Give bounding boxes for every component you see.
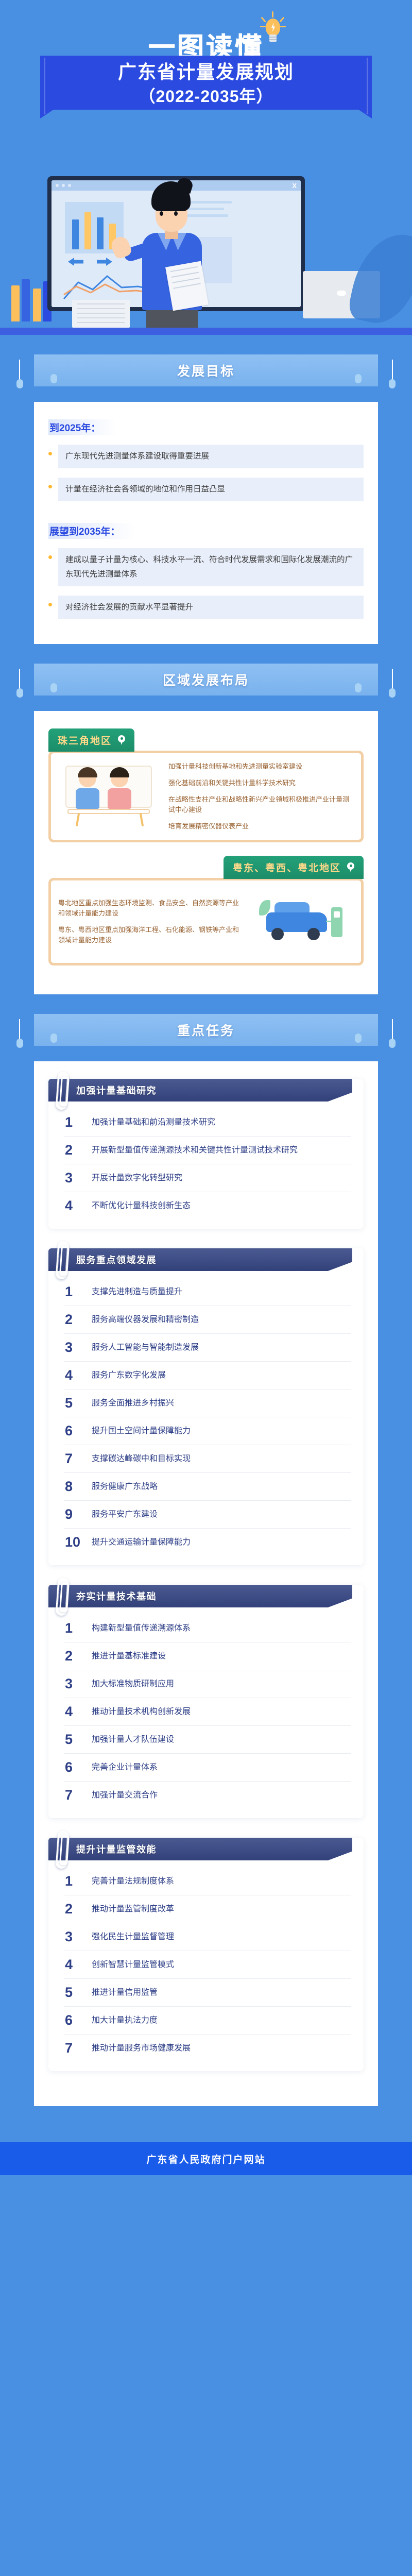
paperclip-icon [55,1241,69,1279]
footer-text: 广东省人民政府门户网站 [146,2152,265,2166]
task-label: 完善计量法规制度体系 [92,1875,174,1888]
task-label: 推动计量服务市场健康发展 [92,2042,191,2055]
task-label: 加强计量交流合作 [92,1789,158,1802]
task-number: 2 [65,1902,82,1916]
task-card: 加强计量基础研究1加强计量基础和前沿测量技术研究2开展新型量值传递溯源技术和关键… [48,1079,364,1229]
section-title-regions: 区域发展布局 [163,670,249,689]
task-card: 夯实计量技术基础1构建新型量值传递溯源体系2推进计量基标准建设3加大标准物质研制… [48,1585,364,1818]
region-point: 在战略性支柱产业和战略性新兴产业领域积极推进产业计量测试中心建设 [168,794,354,815]
goal-item: 对经济社会发展的贡献水平显著提升 [48,596,364,619]
task-number: 2 [65,1143,82,1157]
region-point: 加强计量科技创新基地和先进测量实验室建设 [168,761,354,772]
task-label: 支撑碳达峰碳中和目标实现 [92,1453,191,1465]
region-box-prd: 加强计量科技创新基地和先进测量实验室建设 强化基础前沿和关键共性计量科学技术研究… [48,751,364,842]
pin-icon-right-lower [389,1039,396,1048]
task-list: 1完善计量法规制度体系2推动计量监管制度改革3强化民生计量监督管理4创新智慧计量… [48,1860,364,2062]
section-banner-tasks: 重点任务 [34,1014,378,1046]
task-label: 服务平安广东建设 [92,1509,158,1521]
pin-icon-left-lower [16,1039,23,1048]
region-point: 培育发展精密仪器仪表产业 [168,821,354,832]
region-name: 珠三角地区 [58,733,112,747]
task-number: 7 [65,1788,82,1802]
map-pin-icon [347,862,354,872]
goal-item: 计量在经济社会各领域的地位和作用日益凸显 [48,478,364,501]
section-title-goals: 发展目标 [177,361,235,380]
task-label: 开展新型量值传递溯源技术和关键共性计量测试技术研究 [92,1144,298,1157]
task-row[interactable]: 2开展新型量值传递溯源技术和关键共性计量测试技术研究 [64,1137,351,1164]
task-number: 1 [65,1115,82,1129]
students-illustration [58,764,161,829]
region-box-east-west-north: 粤北地区重点加强生态环境监测、食品安全、自然资源等产业和领域计量能力建设 粤东、… [48,878,364,965]
window-dots-icon [56,184,71,187]
task-label: 强化民生计量监督管理 [92,1931,174,1943]
task-row[interactable]: 4推动计量技术机构创新发展 [64,1698,351,1726]
task-number: 5 [65,1396,82,1410]
task-number: 1 [65,1874,82,1888]
task-card-header: 夯实计量技术基础 [48,1585,352,1607]
task-number: 7 [65,1452,82,1466]
task-row[interactable]: 6提升国土空间计量保障能力 [64,1417,351,1445]
pin-icon-left [50,1033,57,1043]
task-card-header: 提升计量监管效能 [48,1838,352,1860]
paperclip-icon [55,1830,69,1869]
task-number: 3 [65,1930,82,1944]
bullet-dot-icon [48,555,52,559]
section-banner-goals: 发展目标 [34,354,378,386]
tasks-panel: 加强计量基础研究1加强计量基础和前沿测量技术研究2开展新型量值传递溯源技术和关键… [34,1061,378,2106]
task-label: 推动计量监管制度改革 [92,1903,174,1916]
task-row[interactable]: 8服务健康广东战略 [64,1473,351,1501]
paperclip-icon [55,1071,69,1110]
task-row[interactable]: 2服务高端仪器发展和精密制造 [64,1306,351,1334]
bullet-dot-icon [48,603,52,606]
task-label: 构建新型量值传递溯源体系 [92,1622,191,1635]
task-card: 服务重点领域发展1支撑先进制造与质量提升2服务高端仪器发展和精密制造3服务人工智… [48,1248,364,1565]
paper-stack [72,300,130,328]
task-label: 加大标准物质研制应用 [92,1678,174,1690]
pin-icon-left [50,683,57,692]
task-label: 加强计量基础和前沿测量技术研究 [92,1116,215,1129]
task-row[interactable]: 5推进计量信用监管 [64,1979,351,2007]
goal-text: 广东现代先进测量体系建设取得重要进展 [58,445,364,468]
task-label: 加大计量执法力度 [92,2014,158,2027]
task-label: 服务人工智能与智能制造发展 [92,1342,199,1354]
task-row[interactable]: 5服务全面推进乡村振兴 [64,1389,351,1417]
task-row[interactable]: 1构建新型量值传递溯源体系 [64,1615,351,1642]
task-row[interactable]: 6加大计量执法力度 [64,2007,351,2035]
section-title-tasks: 重点任务 [177,1021,235,1039]
region-points-east-west-north: 粤北地区重点加强生态环境监测、食品安全、自然资源等产业和领域计量能力建设 粤东、… [58,898,244,945]
task-row[interactable]: 3服务人工智能与智能制造发展 [64,1334,351,1362]
task-number: 7 [65,2041,82,2055]
task-number: 8 [65,1480,82,1494]
page-header: 一图读懂 广东省计量发展规划 （2022-2035年） [0,0,412,170]
pin-icon-right [355,1033,362,1043]
task-row[interactable]: 1支撑先进制造与质量提升 [64,1278,351,1306]
task-number: 10 [65,1535,82,1549]
task-row[interactable]: 3强化民生计量监督管理 [64,1923,351,1951]
close-icon: X [292,182,297,190]
task-row[interactable]: 4服务广东数字化发展 [64,1362,351,1389]
arrow-right-icon [97,258,112,266]
pin-icon-right-lower [389,379,396,388]
task-number: 3 [65,1677,82,1691]
task-number: 2 [65,1313,82,1327]
pin-icon-left-lower [16,688,23,698]
task-label: 支撑先进制造与质量提升 [92,1286,182,1298]
section-key-tasks: 重点任务 加强计量基础研究1加强计量基础和前沿测量技术研究2开展新型量值传递溯源… [0,994,412,2106]
map-pin-icon [118,735,125,745]
task-card-title: 加强计量基础研究 [76,1083,157,1097]
task-card-title: 夯实计量技术基础 [76,1589,157,1603]
task-label: 加强计量人才队伍建设 [92,1734,174,1746]
task-number: 3 [65,1171,82,1185]
task-number: 1 [65,1285,82,1299]
task-label: 不断优化计量科技创新生态 [92,1200,191,1212]
leaf-decoration [347,226,412,330]
task-number: 4 [65,1199,82,1213]
task-row[interactable]: 3开展计量数字化转型研究 [64,1164,351,1192]
arrow-left-icon [68,258,83,266]
task-row[interactable]: 4不断优化计量科技创新生态 [64,1192,351,1219]
regions-panel: 珠三角地区 加强计量科技创新基地和先进测量实验室建设 强化基础前沿和关键共性计量… [34,711,378,994]
goal-heading-2025: 到2025年： [48,419,116,435]
task-number: 5 [65,1733,82,1747]
pin-icon-left-lower [16,379,23,388]
task-row[interactable]: 7推动计量服务市场健康发展 [64,2035,351,2062]
goal-item: 广东现代先进测量体系建设取得重要进展 [48,445,364,468]
task-card: 提升计量监管效能1完善计量法规制度体系2推动计量监管制度改革3强化民生计量监督管… [48,1838,364,2071]
page-footer: 广东省人民政府门户网站 [0,2142,412,2175]
goals-panel: 到2025年： 广东现代先进测量体系建设取得重要进展 计量在经济社会各领域的地位… [34,402,378,644]
task-number: 4 [65,1368,82,1382]
task-row[interactable]: 7加强计量交流合作 [64,1782,351,1809]
paperclip-icon [55,1577,69,1616]
task-row[interactable]: 1完善计量法规制度体系 [64,1868,351,1895]
task-label: 提升交通运输计量保障能力 [92,1536,191,1549]
goal-text: 对经济社会发展的贡献水平显著提升 [58,596,364,619]
task-label: 创新智慧计量监管模式 [92,1959,174,1971]
pin-icon-right [355,374,362,383]
goal-heading-2035: 展望到2035年： [48,523,135,539]
task-number: 9 [65,1507,82,1521]
task-number: 4 [65,1958,82,1972]
region-points-prd: 加强计量科技创新基地和先进测量实验室建设 强化基础前沿和关键共性计量科学技术研究… [168,761,354,832]
task-number: 6 [65,2013,82,2027]
pin-icon-right-lower [389,688,396,698]
task-number: 4 [65,1705,82,1719]
pin-icon-right [355,683,362,692]
task-number: 3 [65,1341,82,1354]
task-label: 提升国土空间计量保障能力 [92,1425,191,1437]
region-tag-east-west-north: 粤东、粤西、粤北地区 [224,856,364,879]
task-row[interactable]: 6完善企业计量体系 [64,1754,351,1782]
task-number: 6 [65,1760,82,1774]
task-list: 1加强计量基础和前沿测量技术研究2开展新型量值传递溯源技术和关键共性计量测试技术… [48,1101,364,1219]
bullet-dot-icon [48,452,52,455]
task-row[interactable]: 3加大标准物质研制应用 [64,1670,351,1698]
ev-charging-illustration [251,889,354,955]
task-row[interactable]: 5加强计量人才队伍建设 [64,1726,351,1754]
task-card-title: 服务重点领域发展 [76,1253,157,1266]
task-number: 5 [65,1986,82,1999]
task-list: 1支撑先进制造与质量提升2服务高端仪器发展和精密制造3服务人工智能与智能制造发展… [48,1271,364,1556]
hero-divider [0,328,412,335]
region-block-prd: 珠三角地区 加强计量科技创新基地和先进测量实验室建设 强化基础前沿和关键共性计量… [48,728,364,842]
task-card-title: 提升计量监管效能 [76,1842,157,1856]
region-point: 粤东、粤西地区重点加强海洋工程、石化能源、钢铁等产业和领域计量能力建设 [58,925,244,945]
region-point: 强化基础前沿和关键共性计量科学技术研究 [168,778,354,788]
task-number: 2 [65,1649,82,1663]
region-block-east-west-north: 粤东、粤西、粤北地区 粤北地区重点加强生态环境监测、食品安全、自然资源等产业和领… [48,856,364,965]
task-row[interactable]: 2推进计量基标准建设 [64,1642,351,1670]
goal-text: 计量在经济社会各领域的地位和作用日益凸显 [58,478,364,501]
task-row[interactable]: 1加强计量基础和前沿测量技术研究 [64,1109,351,1137]
hero-illustration: X [0,170,412,335]
goal-item: 建成以量子计量为核心、科技水平一流、符合时代发展需求和国际化发展潮流的广东现代先… [48,548,364,586]
task-row[interactable]: 2推动计量监管制度改革 [64,1895,351,1923]
task-label: 推进计量基标准建设 [92,1650,166,1663]
task-label: 开展计量数字化转型研究 [92,1172,182,1184]
task-list: 1构建新型量值传递溯源体系2推进计量基标准建设3加大标准物质研制应用4推动计量技… [48,1607,364,1809]
section-banner-regions: 区域发展布局 [34,664,378,696]
section-regional-layout: 区域发展布局 珠三角地区 [0,644,412,994]
section-development-goals: 发展目标 到2025年： 广东现代先进测量体系建设取得重要进展 计量在经济社会各… [0,335,412,644]
page-subtitle: （2022-2035年） [40,83,372,107]
task-row[interactable]: 4创新智慧计量监管模式 [64,1951,351,1979]
task-label: 服务高端仪器发展和精密制造 [92,1314,199,1326]
presenter-figure [133,181,226,331]
task-label: 推进计量信用监管 [92,1987,158,1999]
task-row[interactable]: 7支撑碳达峰碳中和目标实现 [64,1445,351,1473]
region-name: 粤东、粤西、粤北地区 [233,860,341,874]
task-label: 服务全面推进乡村振兴 [92,1397,174,1410]
pin-icon-left [50,374,57,383]
task-label: 推动计量技术机构创新发展 [92,1706,191,1718]
task-row[interactable]: 9服务平安广东建设 [64,1501,351,1529]
task-number: 1 [65,1621,82,1635]
task-number: 6 [65,1424,82,1438]
goal-text: 建成以量子计量为核心、科技水平一流、符合时代发展需求和国际化发展潮流的广东现代先… [58,548,364,586]
task-label: 服务广东数字化发展 [92,1369,166,1382]
bullet-dot-icon [48,485,52,488]
region-tag-prd: 珠三角地区 [48,728,134,752]
region-point: 粤北地区重点加强生态环境监测、食品安全、自然资源等产业和领域计量能力建设 [58,898,244,919]
task-card-header: 服务重点领域发展 [48,1248,352,1271]
task-label: 服务健康广东战略 [92,1481,158,1493]
page-title: 广东省计量发展规划 [40,61,372,83]
task-card-header: 加强计量基础研究 [48,1079,352,1101]
task-row[interactable]: 10提升交通运输计量保障能力 [64,1529,351,1556]
footer-spacer [0,2106,412,2142]
task-label: 完善企业计量体系 [92,1761,158,1774]
